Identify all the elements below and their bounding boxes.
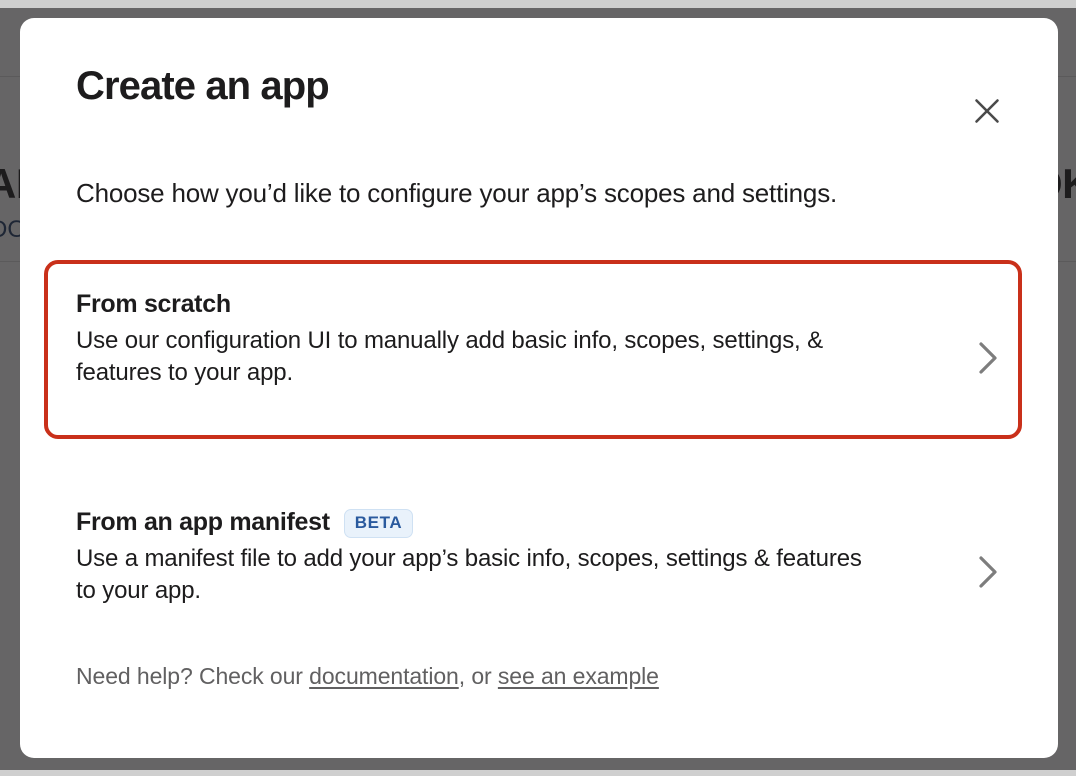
page-title: Create an app [76, 64, 329, 108]
status-badge-beta: BETA [344, 509, 413, 538]
close-button[interactable] [964, 88, 1010, 134]
modal-subtitle: Choose how you’d like to configure your … [76, 178, 837, 209]
close-icon [974, 98, 1000, 124]
chevron-right-icon[interactable] [971, 555, 1005, 589]
screen: AP DOC OK Create an app Choose how you’d… [0, 0, 1076, 776]
option-from-scratch-title: From scratch [76, 291, 231, 319]
chevron-right-icon[interactable] [971, 341, 1005, 375]
modal-footer-help: Need help? Check our documentation, or s… [76, 663, 659, 690]
footer-prefix-text: Need help? Check our [76, 663, 309, 689]
option-from-app-manifest-description: Use a manifest file to add your app’s ba… [76, 543, 866, 608]
option-from-scratch-description: Use our configuration UI to manually add… [76, 325, 886, 390]
option-from-scratch-title-row: From scratch [76, 291, 1006, 319]
window-bottom-strip [0, 770, 1076, 776]
footer-middle-text: , or [459, 663, 498, 689]
option-from-scratch[interactable]: From scratch Use our configuration UI to… [76, 273, 1006, 408]
option-from-app-manifest-title: From an app manifest [76, 509, 330, 537]
see-an-example-link[interactable]: see an example [498, 663, 659, 689]
option-from-app-manifest[interactable]: From an app manifest BETA Use a manifest… [76, 488, 1006, 628]
documentation-link[interactable]: documentation [309, 663, 459, 689]
create-an-app-modal: Create an app Choose how you’d like to c… [20, 18, 1058, 758]
window-top-strip [0, 0, 1076, 8]
modal-header: Create an app [20, 18, 1058, 168]
option-from-app-manifest-title-row: From an app manifest BETA [76, 508, 1006, 537]
